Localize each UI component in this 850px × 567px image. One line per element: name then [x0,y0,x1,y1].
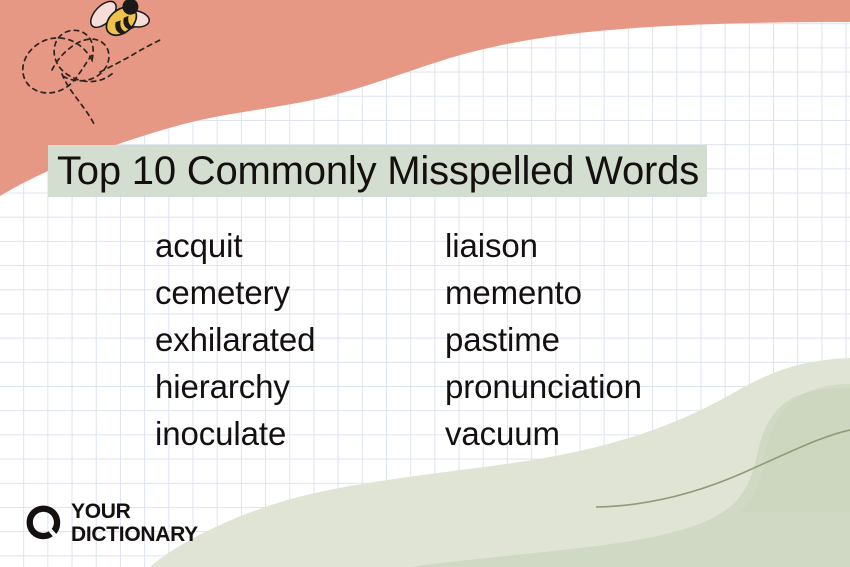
brand-logo[interactable]: YOUR DICTIONARY [26,501,198,545]
word-list: acquit cemetery exhilarated hierarchy in… [0,222,850,457]
word-item: inoculate [155,410,445,457]
word-item: vacuum [445,410,805,457]
word-column-left: acquit cemetery exhilarated hierarchy in… [155,222,445,457]
infographic-canvas: Top 10 Commonly Misspelled Words acquit … [0,0,850,567]
page-title: Top 10 Commonly Misspelled Words [48,145,707,197]
word-item: acquit [155,222,445,269]
word-item: pronunciation [445,363,805,410]
brand-logo-line-2: DICTIONARY [71,524,198,545]
word-item: exhilarated [155,316,445,363]
word-column-right: liaison memento pastime pronunciation va… [445,222,805,457]
brand-logo-text: YOUR DICTIONARY [71,501,198,545]
brand-logo-line-1: YOUR [71,501,198,522]
word-item: memento [445,269,805,316]
content-layer: Top 10 Commonly Misspelled Words acquit … [0,0,850,567]
page-title-wrapper: Top 10 Commonly Misspelled Words [48,145,707,197]
word-item: cemetery [155,269,445,316]
q-circle-mark-icon [26,505,62,541]
word-item: liaison [445,222,805,269]
word-item: hierarchy [155,363,445,410]
word-item: pastime [445,316,805,363]
